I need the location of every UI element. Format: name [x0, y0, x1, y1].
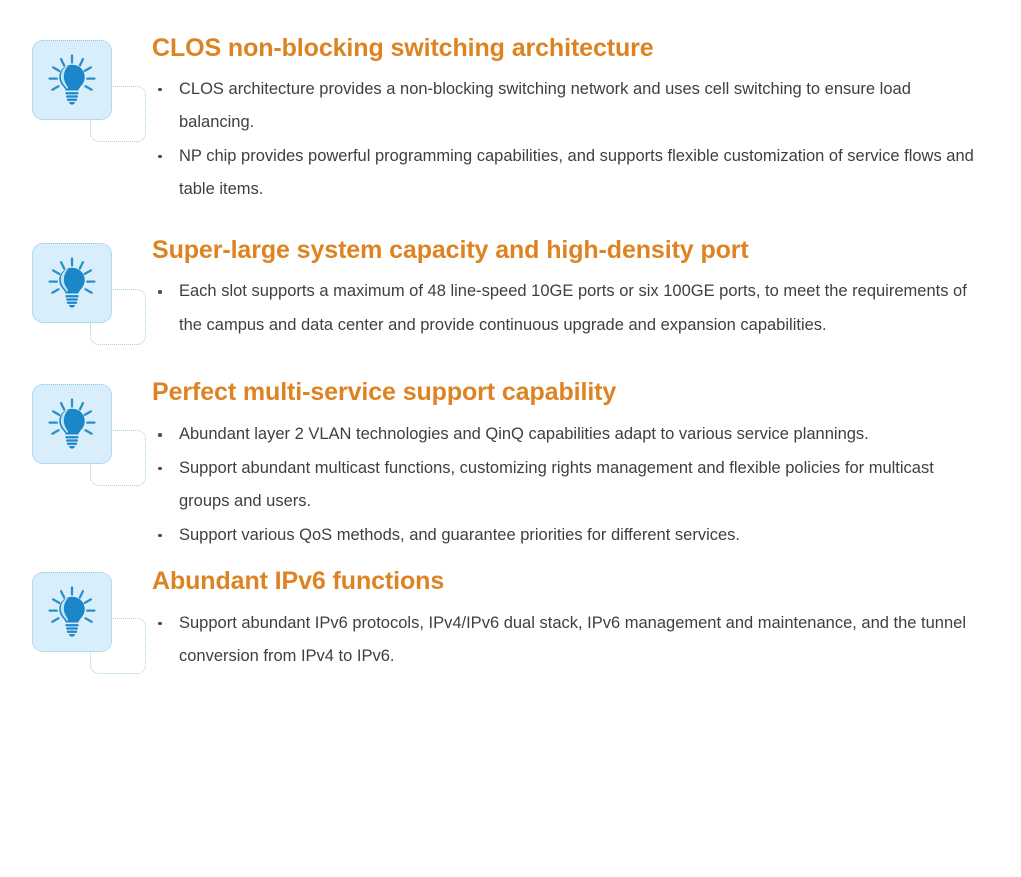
feature-icon-group — [30, 241, 152, 351]
feature-section-4: Abundant IPv6 functions Support abundant… — [0, 568, 1021, 680]
bullet-marker-icon — [158, 88, 162, 92]
feature-section-2: Super-large system capacity and high-den… — [0, 237, 1021, 351]
feature-section-3: Perfect multi-service support capability… — [0, 379, 1021, 553]
feature-text-block: CLOS non-blocking switching architecture… — [152, 35, 1021, 207]
feature-bullet-item: Support abundant multicast functions, cu… — [152, 452, 983, 519]
lightbulb-icon-container — [32, 384, 112, 464]
feature-bullet-item: NP chip provides powerful programming ca… — [152, 140, 983, 207]
lightbulb-icon-container — [32, 572, 112, 652]
feature-bullet-item: CLOS architecture provides a non-blockin… — [152, 73, 983, 140]
feature-bullet-list: Each slot supports a maximum of 48 line-… — [152, 275, 983, 342]
feature-bullet-list: CLOS architecture provides a non-blockin… — [152, 73, 983, 207]
feature-title: Perfect multi-service support capability — [152, 379, 983, 407]
feature-bullet-text: Each slot supports a maximum of 48 line-… — [179, 282, 967, 334]
feature-bullet-list: Abundant layer 2 VLAN technologies and Q… — [152, 418, 983, 552]
feature-title: Abundant IPv6 functions — [152, 568, 983, 596]
feature-text-block: Abundant IPv6 functions Support abundant… — [152, 568, 1021, 674]
bullet-marker-icon — [158, 534, 162, 538]
feature-text-block: Perfect multi-service support capability… — [152, 379, 1021, 553]
feature-bullet-list: Support abundant IPv6 protocols, IPv4/IP… — [152, 607, 983, 674]
lightbulb-icon-container — [32, 243, 112, 323]
feature-bullet-item: Support various QoS methods, and guarant… — [152, 519, 983, 553]
feature-text-block: Super-large system capacity and high-den… — [152, 237, 1021, 343]
bullet-marker-icon — [158, 290, 162, 294]
feature-title: CLOS non-blocking switching architecture — [152, 35, 983, 63]
feature-bullet-text: CLOS architecture provides a non-blockin… — [179, 80, 911, 132]
bullet-marker-icon — [158, 155, 162, 159]
feature-bullet-text: Support abundant multicast functions, cu… — [179, 459, 934, 511]
lightbulb-icon-container — [32, 40, 112, 120]
bullet-marker-icon — [158, 622, 162, 626]
feature-bullet-text: Abundant layer 2 VLAN technologies and Q… — [179, 425, 869, 443]
lightbulb-icon — [44, 52, 100, 108]
lightbulb-icon — [44, 396, 100, 452]
feature-section-list: CLOS non-blocking switching architecture… — [0, 0, 1021, 680]
feature-bullet-text: Support abundant IPv6 protocols, IPv4/IP… — [179, 614, 966, 666]
bullet-marker-icon — [158, 467, 162, 471]
feature-bullet-text: Support various QoS methods, and guarant… — [179, 526, 740, 544]
feature-icon-group — [30, 382, 152, 492]
feature-bullet-text: NP chip provides powerful programming ca… — [179, 147, 974, 199]
feature-bullet-item: Support abundant IPv6 protocols, IPv4/IP… — [152, 607, 983, 674]
lightbulb-icon — [44, 255, 100, 311]
lightbulb-icon — [44, 584, 100, 640]
bullet-marker-icon — [158, 433, 162, 437]
feature-icon-group — [30, 570, 152, 680]
feature-section-1: CLOS non-blocking switching architecture… — [0, 35, 1021, 207]
feature-title: Super-large system capacity and high-den… — [152, 237, 983, 265]
feature-bullet-item: Abundant layer 2 VLAN technologies and Q… — [152, 418, 983, 452]
feature-highlights-page: CLOS non-blocking switching architecture… — [0, 0, 1021, 877]
feature-bullet-item: Each slot supports a maximum of 48 line-… — [152, 275, 983, 342]
feature-icon-group — [30, 38, 152, 148]
